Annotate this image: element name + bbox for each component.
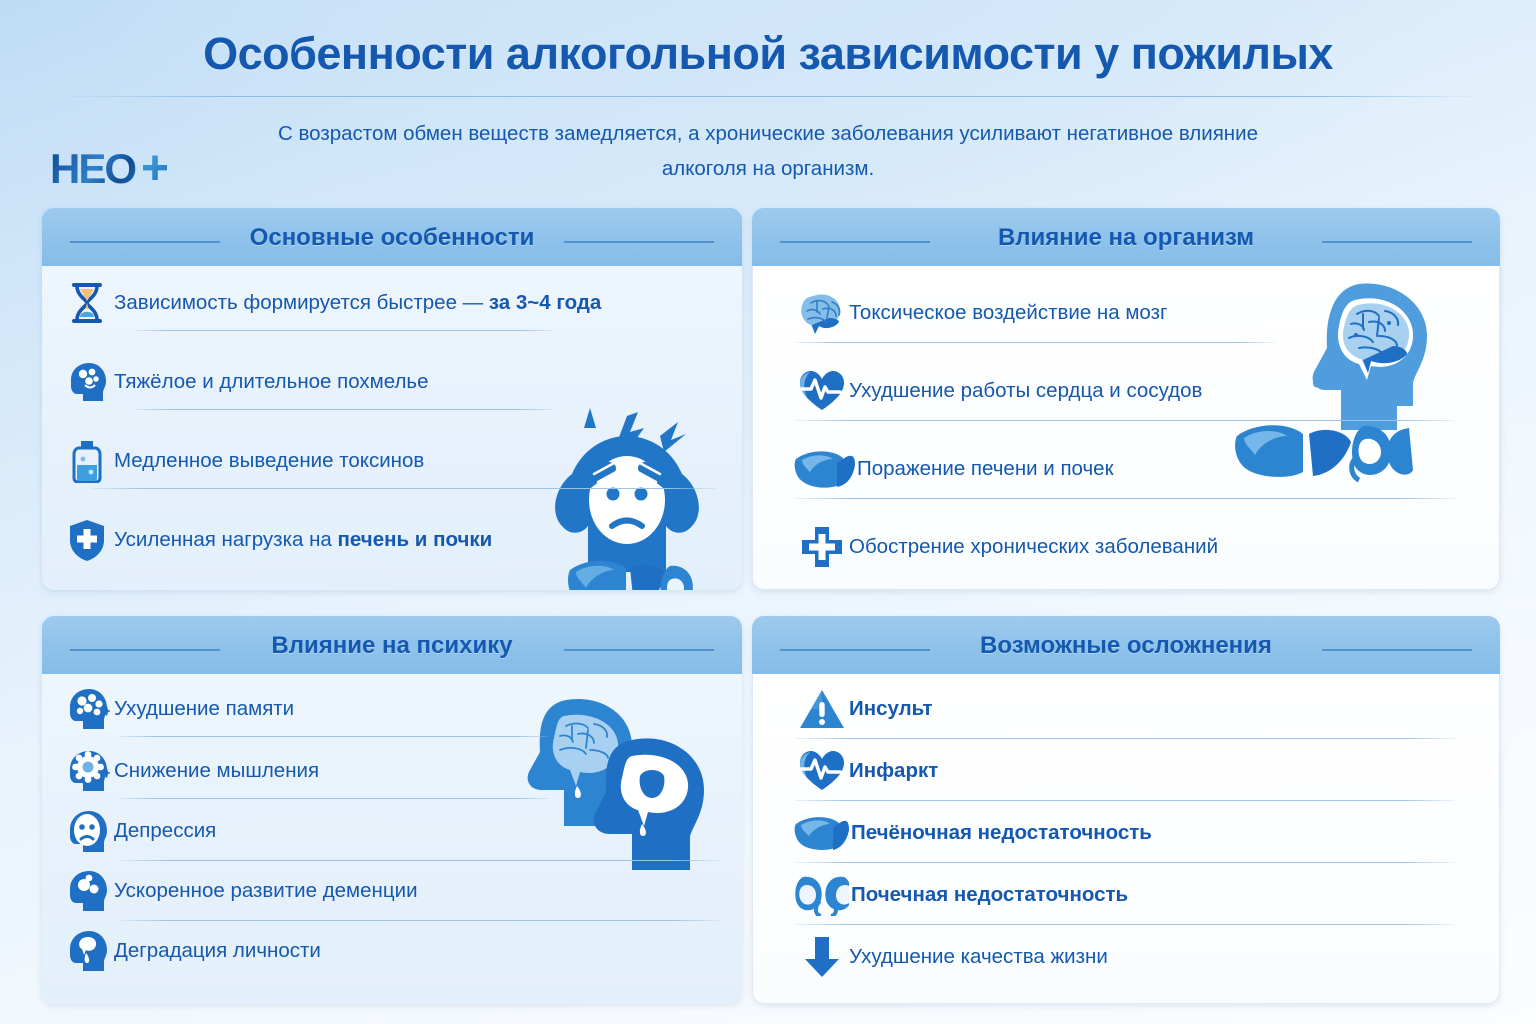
- head-memory-icon: [60, 686, 114, 732]
- liver-kidneys-illustration: [1233, 418, 1413, 484]
- card-title: Влияние на организм: [752, 224, 1500, 252]
- row-divider: [120, 860, 720, 861]
- card-title: Основные особенности: [42, 224, 742, 252]
- row-divider: [120, 920, 720, 921]
- list-item-label: Печёночная недостаточность: [851, 821, 1152, 845]
- head-dementia-icon: [60, 868, 114, 914]
- card-osnovnye-osobennosti: Основные особенности: [42, 208, 742, 590]
- row-divider: [795, 342, 1275, 343]
- arrow-down-icon: [795, 934, 849, 980]
- header-rule-right: [1322, 241, 1472, 243]
- list-item-label: Ухудшение памяти: [114, 697, 294, 721]
- list-item-label: Тяжёлое и длительное похмелье: [114, 370, 429, 394]
- list-item[interactable]: Медленное выведение токсинов: [60, 432, 424, 490]
- list-item-label: Ускоренное развитие деменции: [114, 879, 418, 903]
- row-divider: [795, 498, 1455, 499]
- head-sad-icon: [60, 808, 114, 854]
- list-item-label: Поражение печени и почек: [857, 457, 1114, 481]
- card-body: Ухудшение памяти: [42, 674, 742, 1004]
- list-item[interactable]: Инсульт: [795, 680, 933, 738]
- card-vliyanie-na-psihiku: Влияние на психику: [42, 616, 742, 1004]
- logo-text: НЕО: [50, 148, 135, 190]
- list-item[interactable]: Ухудшение памяти: [60, 680, 294, 738]
- card-title: Возможные осложнения: [752, 632, 1500, 660]
- heart-pulse-icon: [795, 368, 849, 414]
- list-item[interactable]: Почечная недостаточность: [791, 866, 1128, 924]
- card-vliyanie-na-organizm: Влияние на организм: [752, 208, 1500, 590]
- list-item-label: Снижение мышления: [114, 759, 319, 783]
- list-item[interactable]: Токсическое воздействие на мозг: [795, 284, 1167, 342]
- page-subtitle: С возрастом обмен веществ замедляется, а…: [268, 116, 1268, 186]
- card-vozmozhnye-oslozhneniya: Возможные осложнения Инсульт: [752, 616, 1500, 1004]
- row-divider: [134, 330, 554, 331]
- list-item-label: Почечная недостаточность: [851, 883, 1128, 907]
- list-item-label: Деградация личности: [114, 939, 321, 963]
- list-item-label: Инсульт: [849, 697, 933, 721]
- list-item-label: Медленное выведение токсинов: [114, 449, 424, 473]
- list-item-label: Обострение хронических заболеваний: [849, 535, 1218, 559]
- card-title: Влияние на психику: [42, 632, 742, 660]
- title-divider: [52, 96, 1484, 97]
- list-item[interactable]: Поражение печени и почек: [791, 440, 1114, 498]
- liver-icon: [791, 810, 851, 856]
- row-divider: [92, 488, 717, 489]
- two-heads-brain-illustration: [514, 694, 724, 884]
- card-header: Влияние на психику: [42, 616, 742, 674]
- head-hangover-icon: [60, 359, 114, 405]
- heart-pulse-icon: [795, 748, 849, 794]
- list-item[interactable]: Деградация личности: [60, 922, 321, 980]
- shield-cross-icon: [60, 517, 114, 563]
- list-item[interactable]: Обострение хронических заболеваний: [795, 518, 1218, 576]
- header-rule-right: [564, 241, 714, 243]
- card-header: Возможные осложнения: [752, 616, 1500, 674]
- list-item-label: Зависимость формируется быстрее — за 3~4…: [114, 291, 601, 315]
- row-divider: [120, 736, 550, 737]
- list-item[interactable]: Ухудшение качества жизни: [795, 928, 1108, 986]
- row-divider: [120, 798, 550, 799]
- card-body: Токсическое воздействие на мозг Ухудшени…: [752, 266, 1500, 590]
- card-body: Инсульт Инфаркт: [752, 674, 1500, 1004]
- card-body: Зависимость формируется быстрее — за 3~4…: [42, 266, 742, 590]
- list-item-label: Депрессия: [114, 819, 216, 843]
- list-item-label: Ухудшение работы сердца и сосудов: [849, 379, 1202, 403]
- list-item[interactable]: Ухудшение работы сердца и сосудов: [795, 362, 1202, 420]
- row-divider: [795, 738, 1455, 739]
- list-item-label: Инфаркт: [849, 759, 938, 783]
- row-divider: [134, 409, 554, 410]
- list-item[interactable]: Печёночная недостаточность: [791, 804, 1152, 862]
- liver-icon: [791, 446, 857, 492]
- row-divider: [795, 800, 1455, 801]
- logo-plus-icon: +: [141, 148, 167, 190]
- header-rule-right: [1322, 649, 1472, 651]
- head-gear-icon: [60, 748, 114, 794]
- brand-logo: НЕО+: [50, 148, 167, 190]
- head-degradation-icon: [60, 928, 114, 974]
- brain-icon: [795, 290, 849, 336]
- list-item[interactable]: Депрессия: [60, 802, 216, 860]
- page-header: Особенности алкогольной зависимости у по…: [0, 0, 1536, 200]
- cross-medical-icon: [795, 524, 849, 570]
- warning-triangle-icon: [795, 686, 849, 732]
- list-item-label: Токсическое воздействие на мозг: [849, 301, 1167, 325]
- liver-kidney-illustration: [566, 554, 696, 590]
- page-title: Особенности алкогольной зависимости у по…: [0, 28, 1536, 80]
- card-header: Влияние на организм: [752, 208, 1500, 266]
- list-item[interactable]: Тяжёлое и длительное похмелье: [60, 353, 429, 411]
- list-item[interactable]: Зависимость формируется быстрее — за 3~4…: [60, 274, 601, 332]
- card-header: Основные особенности: [42, 208, 742, 266]
- head-brain-illustration: [1301, 278, 1441, 433]
- header-rule-right: [564, 649, 714, 651]
- list-item[interactable]: Инфаркт: [795, 742, 938, 800]
- row-divider: [795, 924, 1455, 925]
- list-item-label: Ухудшение качества жизни: [849, 945, 1108, 969]
- list-item[interactable]: Снижение мышления: [60, 742, 319, 800]
- list-item[interactable]: Ускоренное развитие деменции: [60, 862, 418, 920]
- hourglass-icon: [60, 280, 114, 326]
- row-divider: [795, 420, 1455, 421]
- list-item[interactable]: Усиленная нагрузка на печень и почки: [60, 511, 492, 569]
- kidneys-icon: [791, 872, 851, 918]
- flask-icon: [60, 438, 114, 484]
- row-divider: [795, 862, 1455, 863]
- list-item-label: Усиленная нагрузка на печень и почки: [114, 528, 492, 552]
